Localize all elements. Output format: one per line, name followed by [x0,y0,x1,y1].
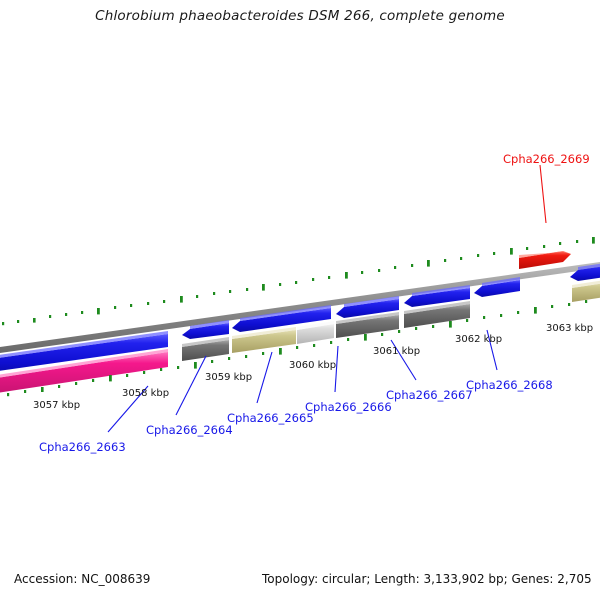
kbp-label-3061: 3061 kbp [373,346,420,357]
gene-label-Cpha266_2665[interactable]: Cpha266_2665 [227,411,314,425]
gene-label-Cpha266_2666[interactable]: Cpha266_2666 [305,400,392,414]
gene-label-Cpha266_2669[interactable]: Cpha266_2669 [503,152,590,166]
gene-bar-khaki-2[interactable] [572,279,600,302]
genome-browser-canvas: Chlorobium phaeobacteroides DSM 266, com… [0,0,600,600]
gene-bar-light-gray-1[interactable] [297,321,334,344]
kbp-label-3058: 3058 kbp [122,388,169,399]
gene-arrow-Cpha266_2669[interactable] [519,251,571,269]
leader-line-Cpha266_2669 [540,165,546,223]
leader-line-Cpha266_2665 [257,352,272,403]
kbp-label-3063: 3063 kbp [546,323,593,334]
gene-label-Cpha266_2667[interactable]: Cpha266_2667 [386,388,473,402]
accession-text: Accession: NC_008639 [14,572,150,586]
kbp-label-3062: 3062 kbp [455,334,502,345]
kbp-label-3060: 3060 kbp [289,360,336,371]
gene-label-Cpha266_2663[interactable]: Cpha266_2663 [39,440,126,454]
genome-stats-text: Topology: circular; Length: 3,133,902 bp… [262,572,592,586]
genome-diagram [0,0,600,600]
kbp-label-3059: 3059 kbp [205,372,252,383]
leader-line-Cpha266_2664 [176,356,206,415]
gene-track-upper [0,262,600,375]
genome-backbone-lower [0,515,600,600]
gene-label-Cpha266_2664[interactable]: Cpha266_2664 [146,423,233,437]
kbp-label-3057: 3057 kbp [33,400,80,411]
gene-label-Cpha266_2668[interactable]: Cpha266_2668 [466,378,553,392]
